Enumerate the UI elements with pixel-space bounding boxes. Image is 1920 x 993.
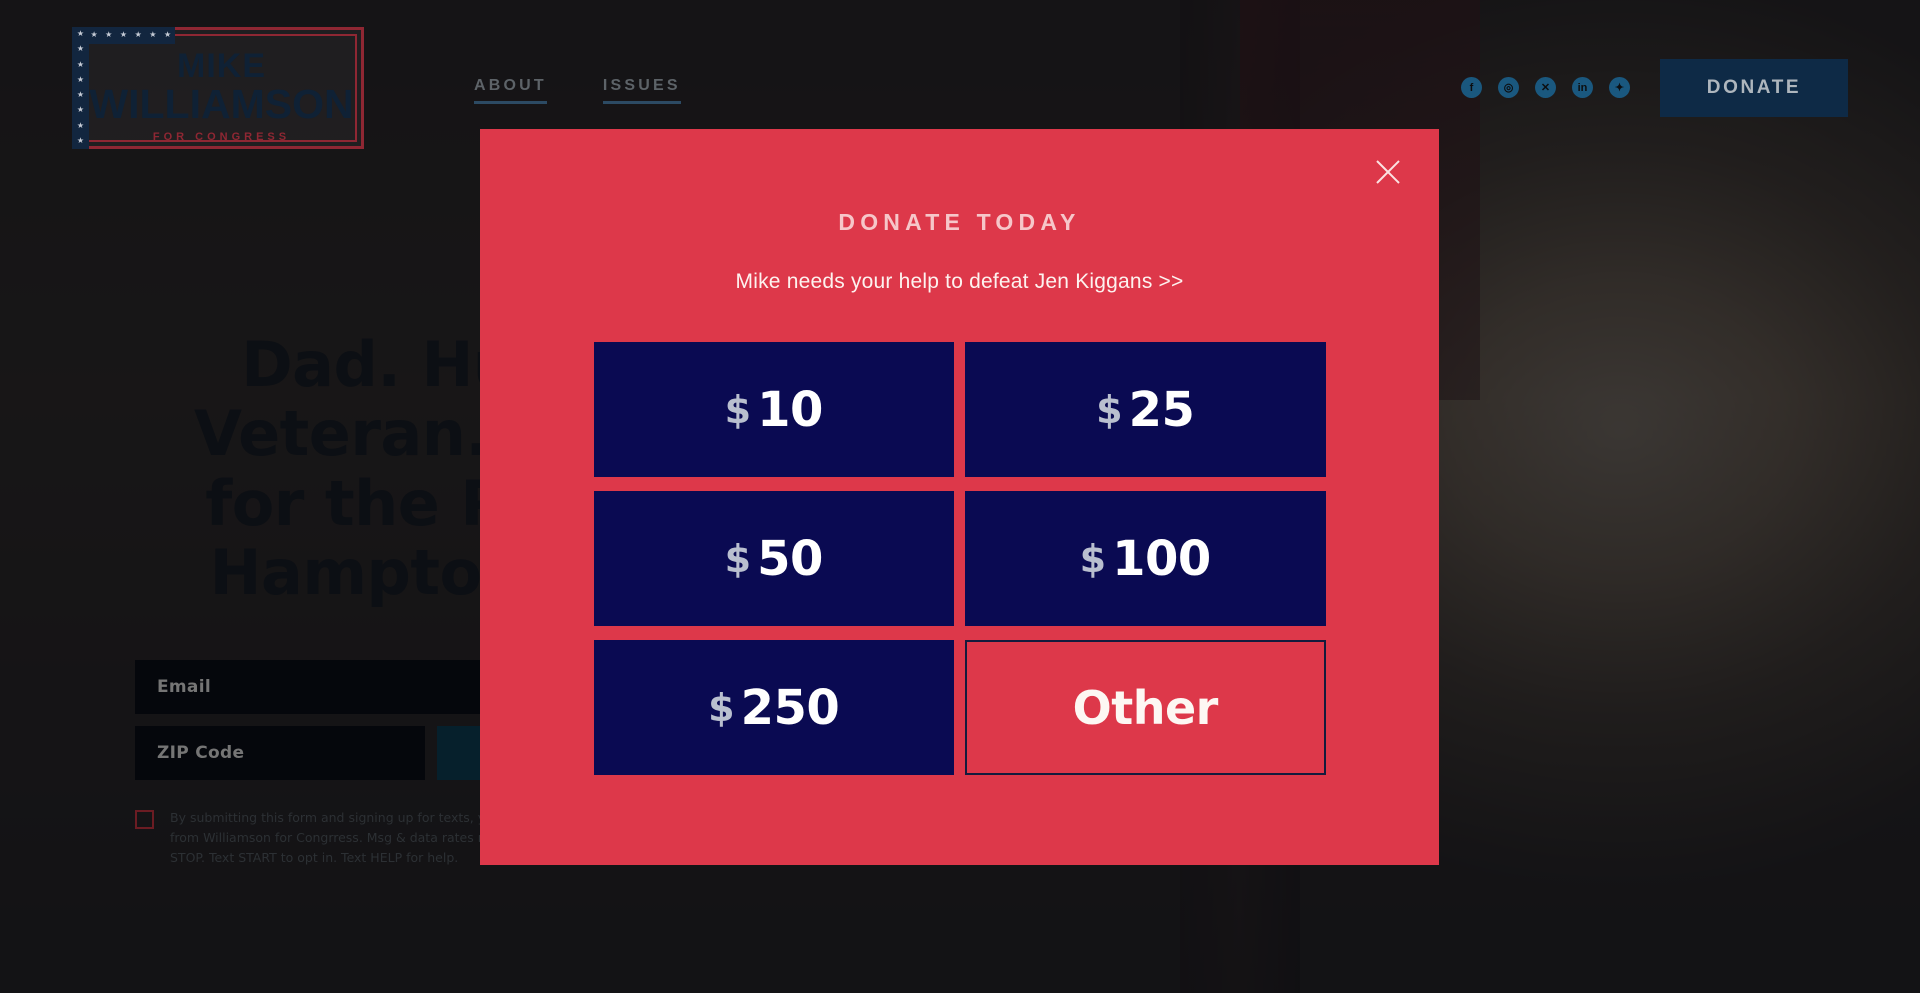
star-icon: ★	[77, 122, 84, 130]
donate-amount-100[interactable]: $ 100	[965, 491, 1326, 626]
star-icon: ★	[77, 106, 84, 114]
social-links: f ◎ ✕ in ✦	[1461, 77, 1630, 98]
star-icon: ★	[77, 30, 84, 38]
star-icon: ★	[77, 76, 84, 84]
donate-amount-50[interactable]: $ 50	[594, 491, 955, 626]
consent-checkbox[interactable]	[135, 810, 154, 829]
amount-value: 10	[757, 382, 823, 438]
close-icon[interactable]	[1367, 151, 1409, 193]
logo-tagline: FOR CONGRESS	[153, 131, 290, 143]
amount-value: 100	[1112, 531, 1211, 587]
linkedin-icon[interactable]: in	[1572, 77, 1593, 98]
star-icon: ★	[164, 31, 171, 39]
donate-modal: DONATE TODAY Mike needs your help to def…	[480, 129, 1439, 865]
amount-value: 25	[1129, 382, 1195, 438]
star-icon: ★	[135, 31, 142, 39]
donate-amount-25[interactable]: $ 25	[965, 342, 1326, 477]
star-icon: ★	[77, 61, 84, 69]
page-root: ★ ★ ★ ★ ★ ★ ★ ★ ★ ★ ★ ★ ★ ★ ★ MIKE WILLI…	[0, 0, 1920, 993]
modal-subtitle: Mike needs your help to defeat Jen Kigga…	[480, 270, 1439, 294]
modal-title: DONATE TODAY	[480, 209, 1439, 236]
donate-amount-other[interactable]: Other	[965, 640, 1326, 775]
currency-symbol: $	[725, 537, 751, 581]
donate-amount-10[interactable]: $ 10	[594, 342, 955, 477]
facebook-icon[interactable]: f	[1461, 77, 1482, 98]
zip-code-input[interactable]	[135, 726, 425, 780]
currency-symbol: $	[725, 388, 751, 432]
nav-item-issues[interactable]: ISSUES	[603, 77, 681, 104]
star-icon: ★	[120, 31, 127, 39]
amount-value: 50	[757, 531, 823, 587]
logo-last-name: WILLIAMSON	[89, 83, 353, 126]
donation-amount-grid: $ 10 $ 25 $ 50 $ 100 $ 250 Other	[594, 342, 1326, 775]
star-icon: ★	[105, 31, 112, 39]
x-twitter-icon[interactable]: ✕	[1535, 77, 1556, 98]
nav-item-about[interactable]: ABOUT	[474, 77, 547, 104]
logo-star-bar-left: ★ ★ ★ ★ ★ ★ ★ ★	[72, 27, 89, 149]
header-right-group: f ◎ ✕ in ✦ DONATE	[1461, 59, 1848, 117]
amount-value: Other	[1073, 681, 1218, 735]
currency-symbol: $	[708, 686, 734, 730]
currency-symbol: $	[1096, 388, 1122, 432]
star-icon: ★	[149, 31, 156, 39]
bluesky-icon[interactable]: ✦	[1609, 77, 1630, 98]
amount-value: 250	[741, 680, 840, 736]
star-icon: ★	[77, 137, 84, 145]
star-icon: ★	[90, 31, 97, 39]
donate-amount-250[interactable]: $ 250	[594, 640, 955, 775]
star-icon: ★	[77, 91, 84, 99]
star-icon: ★	[77, 45, 84, 53]
header-donate-button[interactable]: DONATE	[1660, 59, 1848, 117]
campaign-logo[interactable]: ★ ★ ★ ★ ★ ★ ★ ★ ★ ★ ★ ★ ★ ★ ★ MIKE WILLI…	[72, 27, 364, 149]
instagram-icon[interactable]: ◎	[1498, 77, 1519, 98]
currency-symbol: $	[1080, 537, 1106, 581]
logo-text-block: MIKE WILLIAMSON FOR CONGRESS	[89, 44, 354, 149]
logo-first-name: MIKE	[177, 49, 266, 83]
